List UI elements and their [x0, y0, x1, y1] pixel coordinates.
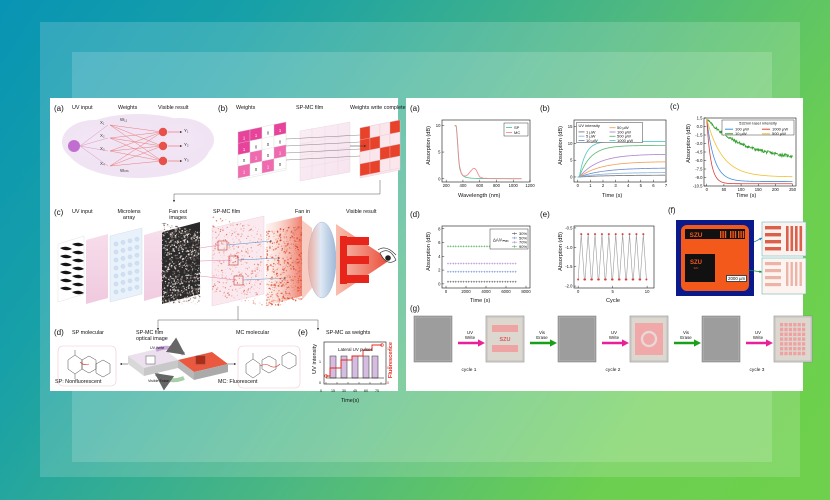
panel-d-visible-erase-label: Visible Erase	[148, 379, 169, 383]
panel-e-xtick-30: 30	[342, 389, 346, 393]
svg-text:600: 600	[476, 183, 484, 188]
panel-e-ytick-left-1: 1	[319, 360, 321, 364]
svg-text:4: 4	[627, 183, 630, 188]
svg-text:2000: 2000	[461, 289, 471, 294]
svg-text:250: 250	[789, 187, 797, 192]
panel-a-title-uv-input: UV input	[72, 105, 93, 111]
left-panel-a	[62, 114, 214, 178]
page-root: 1101100001011010	[0, 0, 830, 500]
svg-text:-10.5: -10.5	[693, 184, 703, 189]
right-panel-b-tag: (b)	[540, 104, 550, 113]
chart-b-xlabel: Time (s)	[602, 193, 622, 199]
panel-e-ytick-right-05: 0.5	[387, 366, 392, 370]
svg-text:10: 10	[645, 289, 650, 294]
svg-text:-3.0: -3.0	[695, 141, 703, 146]
svg-text:4000: 4000	[481, 289, 491, 294]
right-panel-e-tag: (e)	[540, 210, 550, 219]
svg-text:800: 800	[493, 183, 501, 188]
svg-text:-6.0: -6.0	[695, 158, 703, 163]
svg-text:Erase: Erase	[536, 335, 548, 340]
svg-text:10: 10	[436, 123, 441, 128]
panel-d-uv-write-label: UV Write	[150, 346, 164, 350]
chart-b-ylabel: Absorption (dB)	[558, 126, 564, 165]
svg-text:15: 15	[568, 124, 573, 129]
svg-text:10 µW: 10 µW	[586, 138, 598, 143]
svg-text:5: 5	[611, 289, 614, 294]
svg-text:-1.0: -1.0	[565, 245, 573, 250]
panel-d-caption-sp: SP: Nonfluorescent	[55, 379, 101, 385]
panel-a-input-x1: X₁	[100, 120, 104, 125]
svg-text:1200: 1200	[525, 183, 535, 188]
left-figure-panel: 1101100001011010	[50, 98, 398, 391]
svg-text:532nm laser intensity: 532nm laser intensity	[739, 121, 777, 126]
left-panel-e-tag: (e)	[298, 328, 308, 337]
svg-text:SZU: SZU	[690, 232, 703, 239]
panel-c-title-visible-result: Visible result	[346, 209, 376, 215]
panel-d-title-sp: SP molecular	[72, 330, 104, 336]
right-panel-g-tag: (g)	[410, 304, 420, 313]
svg-text:-9.0: -9.0	[695, 175, 703, 180]
panel-a-title-weights: Weights	[118, 105, 137, 111]
right-figure-panel: 200400600800100012000510SPMC 01234567051…	[406, 98, 803, 391]
panel-d-title-film-image: SP-MC film optical image	[136, 330, 180, 343]
chart-a-xlabel: Wavelength (nm)	[458, 193, 500, 199]
svg-text:4: 4	[438, 254, 441, 259]
panel-b-title-weights: Weights	[236, 105, 255, 111]
svg-text:0: 0	[438, 281, 441, 286]
panel-e-xtick-0: 0	[320, 389, 322, 393]
chart-c-ylabel: Absorption (dB)	[686, 124, 692, 163]
panel-e-xtick-75: 75	[375, 389, 379, 393]
right-panel-f-tag: (f)	[668, 206, 676, 215]
panel-d-caption-mc: MC: Fluorescent	[218, 379, 258, 385]
svg-text:MC: MC	[514, 130, 520, 135]
chart-e-xlabel: Cycle	[606, 298, 620, 304]
svg-text:7: 7	[665, 183, 668, 188]
panel-e-annotation: Lateral UV pulses	[338, 347, 373, 352]
panel-c-title-fanin: Fan in	[295, 209, 310, 215]
left-panel-d-tag: (d)	[54, 328, 64, 337]
panel-e-title: SP-MC as weights	[326, 330, 370, 336]
svg-text:SZU: SZU	[500, 337, 511, 343]
svg-text:Write: Write	[609, 335, 620, 340]
svg-text:200: 200	[772, 187, 780, 192]
panel-e-ytick-right-1: 1	[387, 347, 389, 351]
panel-c-title-film: SP-MC film	[213, 209, 240, 215]
svg-text:100: 100	[738, 187, 746, 192]
svg-text:0.0: 0.0	[697, 124, 703, 129]
right-panel-c-tag: (c)	[670, 102, 679, 111]
chart-d-xlabel: Time (s)	[470, 298, 490, 304]
svg-text:10: 10	[568, 141, 573, 146]
svg-text:1: 1	[589, 183, 592, 188]
left-panel-b: 1101100001011010	[238, 120, 400, 181]
svg-text:-4.5: -4.5	[695, 150, 703, 155]
svg-text:3: 3	[614, 183, 617, 188]
svg-text:SZU: SZU	[693, 240, 698, 244]
svg-text:-7.5: -7.5	[695, 167, 703, 172]
panel-a-input-x3: X₃	[100, 146, 105, 151]
svg-text:1000 µW: 1000 µW	[617, 138, 633, 143]
panel-d-title-mc: MC molecular	[236, 330, 269, 336]
panel-a-output-y1: Y₁	[184, 128, 188, 133]
chart-d-ylabel: Absorption (dB)	[426, 232, 432, 271]
svg-text:90%: 90%	[519, 244, 527, 249]
panel-c-title-uv-input: UV input	[72, 209, 93, 215]
svg-text:0: 0	[445, 289, 448, 294]
panel-e-xtick-60: 60	[364, 389, 368, 393]
svg-text:SZU: SZU	[694, 267, 699, 270]
svg-text:-1.5: -1.5	[695, 133, 703, 138]
svg-text:1000: 1000	[509, 183, 519, 188]
svg-text:8000: 8000	[521, 289, 531, 294]
svg-text:0: 0	[706, 187, 709, 192]
panel-a-input-x2: X₂	[100, 133, 105, 138]
svg-text:2: 2	[602, 183, 605, 188]
svg-text:cycle 2: cycle 2	[606, 367, 621, 373]
svg-text:200: 200	[443, 183, 451, 188]
panel-a-output-y2: Y₂	[184, 142, 189, 147]
svg-text:Erase: Erase	[680, 335, 692, 340]
svg-text:8: 8	[438, 226, 441, 231]
svg-text:150: 150	[755, 187, 763, 192]
panel-e-xlabel: Time(s)	[341, 398, 359, 404]
svg-text:10 µW: 10 µW	[735, 131, 747, 136]
panel-a-input-x4: X₄	[100, 161, 105, 166]
svg-text:5: 5	[570, 158, 573, 163]
right-panel-a-tag: (a)	[410, 104, 420, 113]
chart-c-xlabel: Time (s)	[736, 193, 756, 199]
left-panel-c	[58, 216, 396, 307]
right-figure-svg: 200400600800100012000510SPMC 01234567051…	[406, 98, 803, 391]
panel-e-ylabel-left: UV intensity	[312, 344, 318, 374]
left-panel-a-tag: (a)	[54, 104, 64, 113]
svg-text:ΔA/Aₘₐₓ: ΔA/Aₘₐₓ	[493, 238, 509, 243]
svg-text:5: 5	[438, 150, 441, 155]
chart-a-ylabel: Absorption (dB)	[426, 126, 432, 165]
svg-text:Write: Write	[465, 335, 476, 340]
svg-text:0: 0	[577, 289, 580, 294]
svg-text:6: 6	[438, 240, 441, 245]
panel-a-weight-last: Wₙₘ	[120, 168, 129, 174]
panel-e-xtick-15: 15	[331, 389, 335, 393]
svg-text:-0.5: -0.5	[565, 225, 573, 230]
chart-e-ylabel: Absorption (dB)	[558, 232, 564, 271]
panel-c-title-microlens: Microlens array	[112, 209, 146, 221]
svg-text:400: 400	[459, 183, 467, 188]
svg-text:UV intensity: UV intensity	[579, 123, 600, 128]
panel-e-ytick-left-0: 0	[319, 381, 321, 385]
svg-text:0: 0	[577, 183, 580, 188]
svg-text:0: 0	[570, 174, 573, 179]
panel-f-scalebar-label: 2000 µm	[726, 275, 747, 282]
panel-e-xtick-45: 45	[353, 389, 357, 393]
svg-text:1.5: 1.5	[697, 116, 703, 121]
right-panel-d-tag: (d)	[410, 210, 420, 219]
panel-c-title-fanout: Fan out images	[162, 209, 194, 221]
svg-text:6: 6	[652, 183, 655, 188]
panel-b-title-complete: Weights write complete	[350, 105, 406, 111]
svg-text:-1.5: -1.5	[565, 264, 573, 269]
panel-b-title-film: SP-MC film	[296, 105, 323, 111]
left-panel-c-tag: (c)	[54, 208, 63, 217]
svg-text:Write: Write	[753, 335, 764, 340]
svg-text:50: 50	[722, 187, 727, 192]
left-panel-b-tag: (b)	[218, 104, 228, 113]
svg-text:-2.0: -2.0	[565, 284, 573, 289]
panel-a-output-y3: Y₃	[184, 157, 189, 162]
panel-a-weight-first: W₁₁	[120, 117, 127, 122]
panel-a-title-visible-result: Visible result	[158, 105, 188, 111]
svg-text:cycle 1: cycle 1	[462, 367, 477, 373]
svg-text:2: 2	[438, 268, 441, 273]
svg-text:SZU: SZU	[690, 260, 702, 266]
svg-text:cycle 3: cycle 3	[750, 367, 765, 373]
svg-text:0: 0	[438, 176, 441, 181]
svg-text:6000: 6000	[501, 289, 511, 294]
svg-text:5: 5	[640, 183, 643, 188]
svg-text:500 µW: 500 µW	[772, 131, 786, 136]
panel-e-ytick-right-0: 0	[387, 381, 389, 385]
